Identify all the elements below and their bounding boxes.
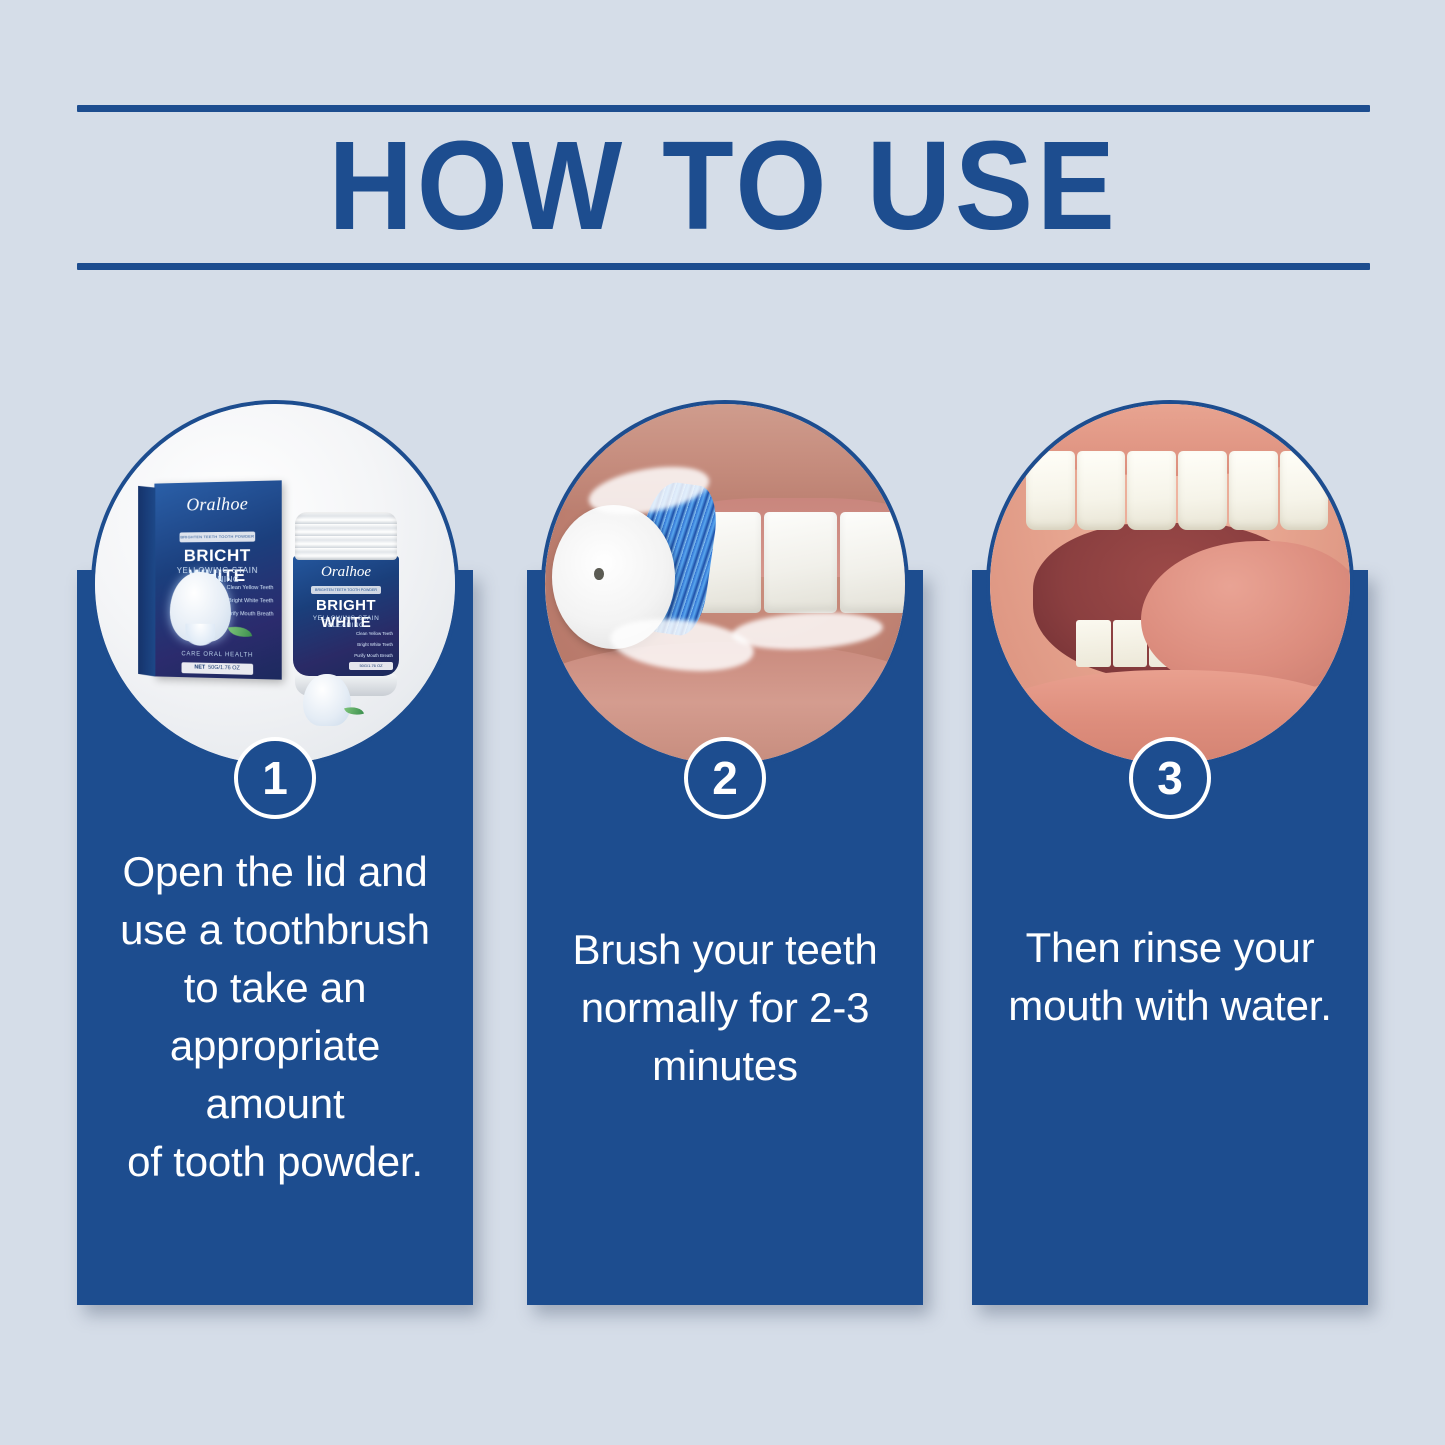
brushing-photo: [545, 404, 905, 764]
step-card-3: 3 Then rinse your mouth with water.: [972, 400, 1368, 1305]
step-3-caption: Then rinse your mouth with water.: [986, 919, 1354, 1035]
product-box-footer: CARE ORAL HEALTH: [154, 651, 281, 660]
foam-3: [731, 609, 884, 653]
step-card-2: 2 Brush your teeth normally for 2-3 minu…: [527, 400, 923, 1305]
teeth-row: [689, 512, 905, 613]
product-jar-brand: Oralhoe: [293, 564, 399, 581]
steps-container: Oralhoe BRIGHTEN TEETH TOOTH POWDER BRIC…: [0, 0, 1445, 1445]
step-1-photo: Oralhoe BRIGHTEN TEETH TOOTH POWDER BRIC…: [91, 400, 459, 768]
jar-tooth-graphic: [303, 674, 351, 726]
jar-bullet-1: Clean Yellow Teeth: [345, 628, 393, 639]
product-jar: Oralhoe BRIGHTEN TEETH TOOTH POWDER BRIG…: [293, 512, 399, 690]
product-box-side: [138, 486, 155, 677]
product-jar-lid: [295, 512, 397, 560]
product-box: Oralhoe BRIGHTEN TEETH TOOTH POWDER BRIC…: [154, 480, 281, 679]
product-box-ribbon: BRIGHTEN TEETH TOOTH POWDER: [180, 532, 256, 543]
step-2-number-badge: 2: [684, 737, 766, 819]
step-1-number-badge: 1: [234, 737, 316, 819]
product-jar-subhead: YELLOWING STAIN CLEANING: [293, 615, 399, 629]
jar-bullet-3: Purify Mouth Breath: [345, 650, 393, 661]
upper-teeth-row: [1026, 451, 1328, 530]
product-jar-ribbon: BRIGHTEN TEETH TOOTH POWDER: [311, 586, 381, 594]
tooth-graphic: [170, 572, 231, 642]
step-2-caption: Brush your teeth normally for 2-3 minute…: [541, 921, 909, 1095]
jar-bullet-2: Bright White Teeth: [345, 639, 393, 650]
step-1-caption: Open the lid and use a toothbrush to tak…: [91, 843, 459, 1191]
step-3-number-badge: 3: [1129, 737, 1211, 819]
product-jar-net-weight: 50G/1.76 OZ: [349, 662, 393, 670]
product-box-net-weight: NET50G/1.76 OZ: [182, 662, 254, 675]
net-value: 50G/1.76 OZ: [208, 665, 240, 672]
net-label: NET: [194, 664, 205, 670]
product-jar-bullets: Clean Yellow Teeth Bright White Teeth Pu…: [345, 628, 393, 661]
mint-leaf-graphic: [228, 623, 252, 640]
step-3-photo: [986, 400, 1354, 768]
product-box-brand: Oralhoe: [154, 493, 281, 517]
open-mouth-photo: [990, 404, 1350, 764]
step-2-photo: [541, 400, 909, 768]
step-card-1: Oralhoe BRIGHTEN TEETH TOOTH POWDER BRIC…: [77, 400, 473, 1305]
